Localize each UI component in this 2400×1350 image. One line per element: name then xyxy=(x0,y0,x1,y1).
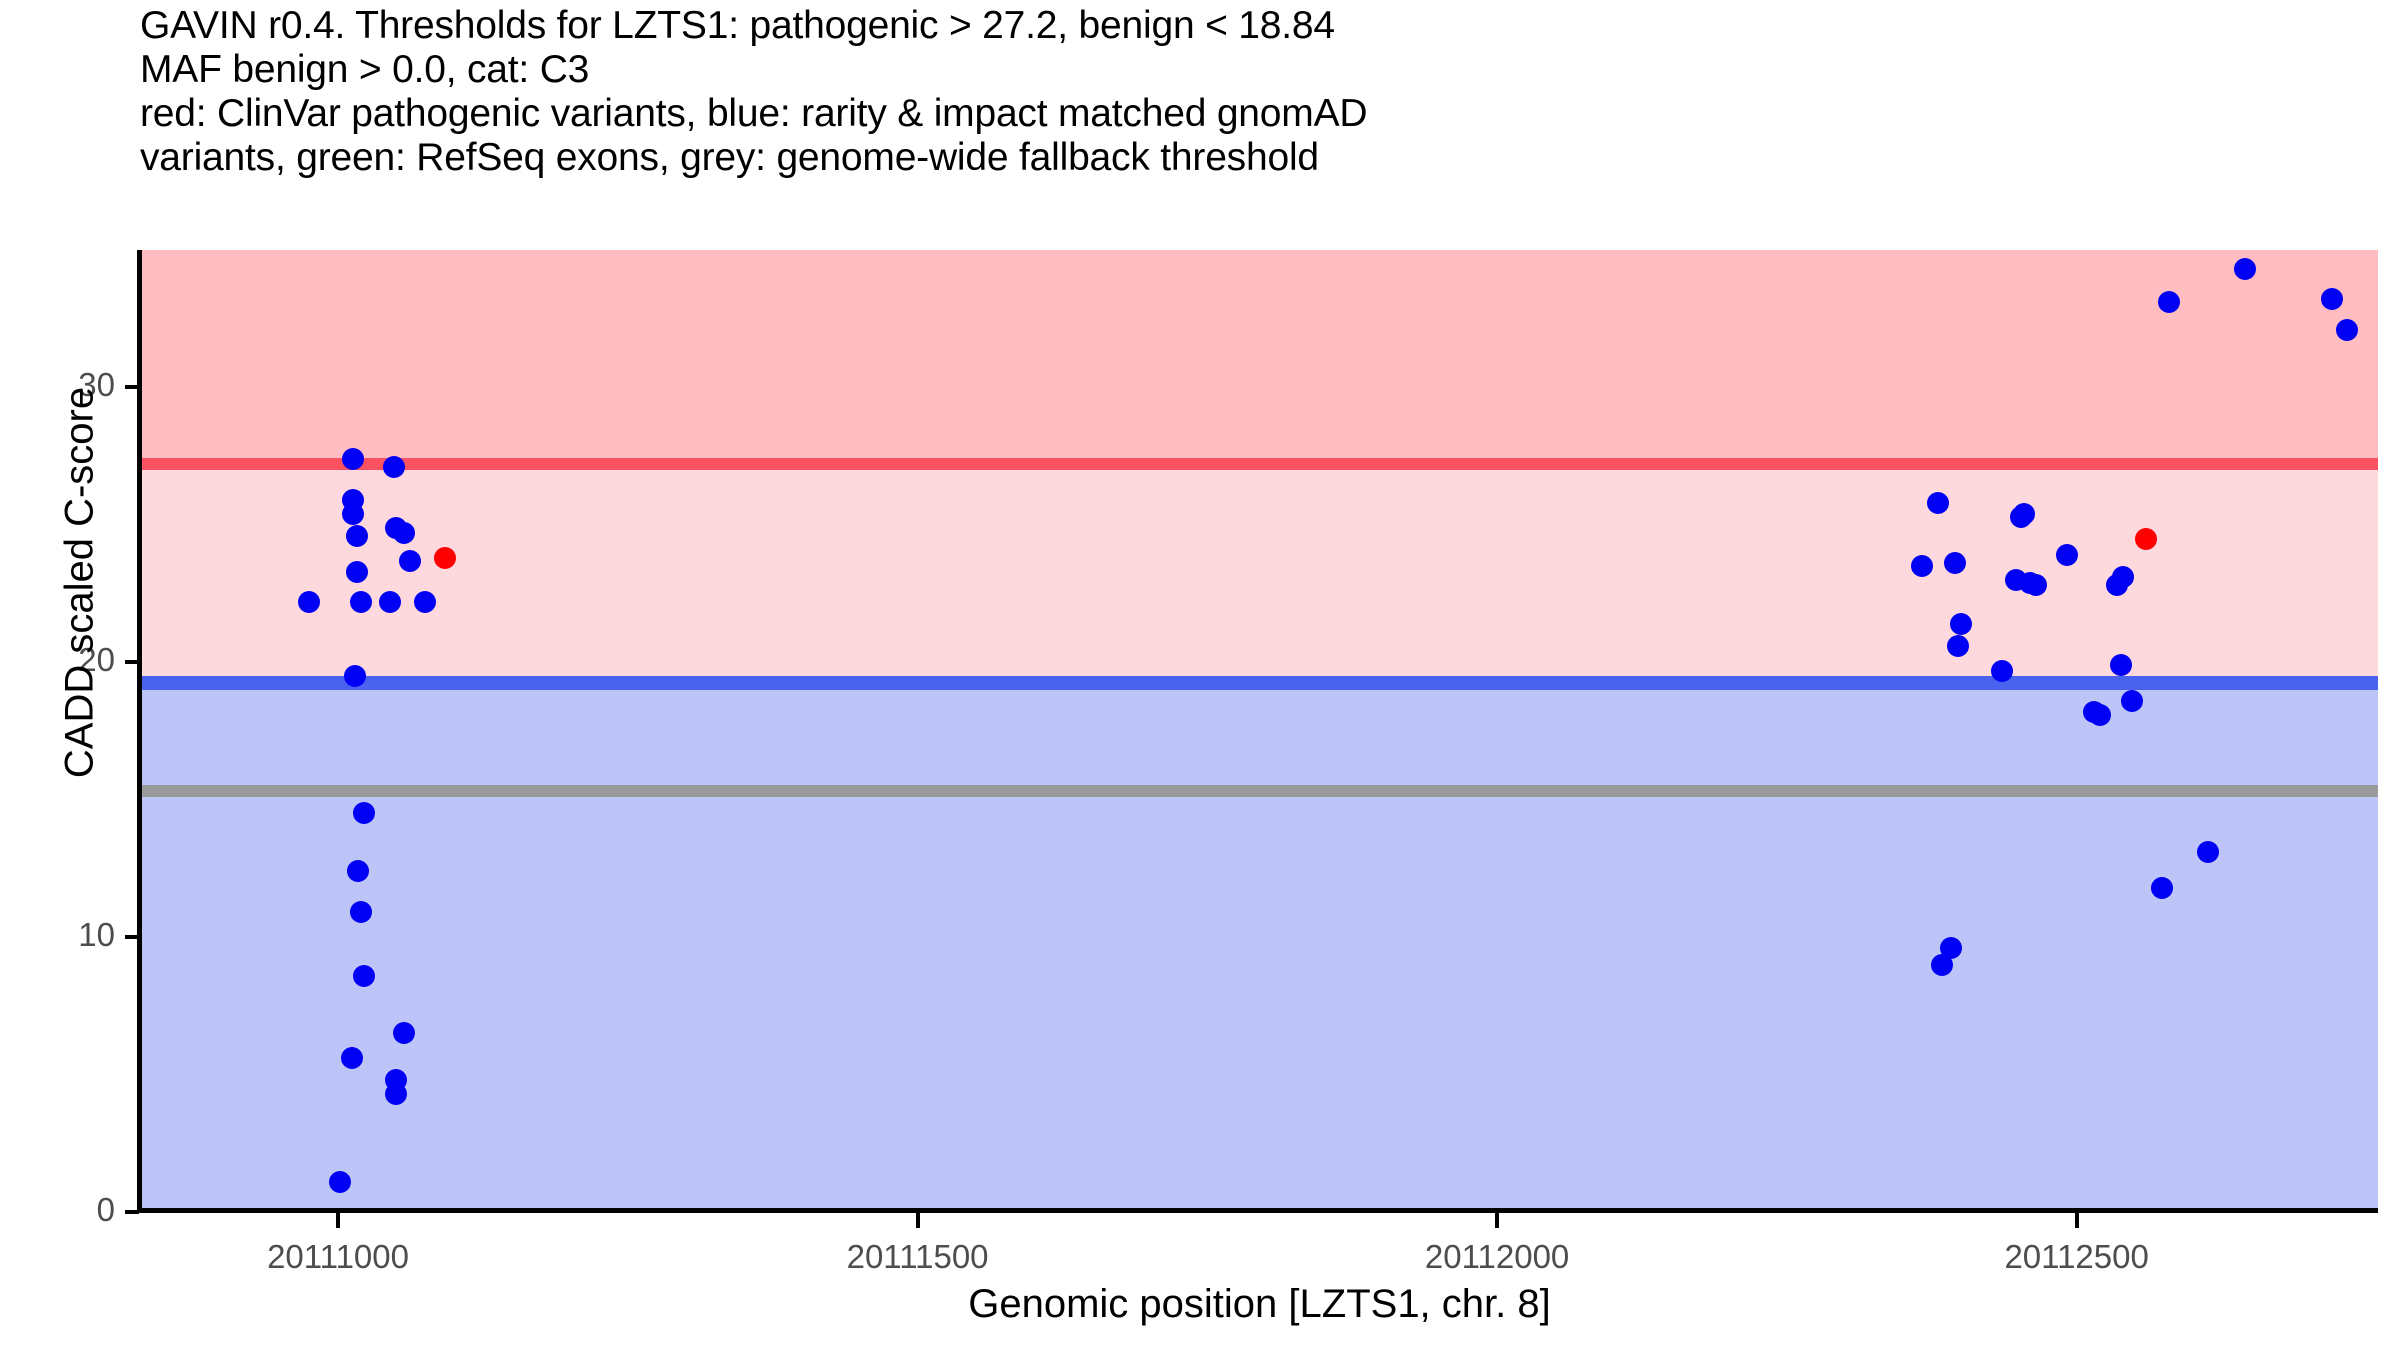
x-tick-label: 20111500 xyxy=(768,1238,1068,1276)
y-tick-mark xyxy=(125,1210,139,1214)
y-axis-title: CADD scaled C-score xyxy=(58,203,103,963)
y-tick-label: 0 xyxy=(0,1191,115,1229)
plot-panel xyxy=(141,250,2378,1212)
y-tick-mark xyxy=(125,935,139,939)
benign-region-lower xyxy=(141,797,2378,1212)
x-tick-label: 20112000 xyxy=(1347,1238,1647,1276)
x-tick-mark xyxy=(2075,1213,2079,1228)
x-tick-mark xyxy=(336,1213,340,1228)
data-point xyxy=(346,525,368,547)
data-point xyxy=(342,503,364,525)
y-axis-line xyxy=(137,250,142,1212)
x-axis-title: Genomic position [LZTS1, chr. 8] xyxy=(141,1282,2378,1327)
y-tick-mark xyxy=(125,660,139,664)
data-point xyxy=(1991,660,2013,682)
pathogenic-region xyxy=(141,250,2378,458)
data-point xyxy=(1950,613,1972,635)
data-point xyxy=(383,456,405,478)
data-point xyxy=(350,591,372,613)
data-point xyxy=(434,547,456,569)
data-point xyxy=(346,561,368,583)
y-tick-mark xyxy=(125,385,139,389)
data-point xyxy=(342,448,364,470)
x-tick-label: 20111000 xyxy=(188,1238,488,1276)
data-point xyxy=(2197,841,2219,863)
data-point xyxy=(2336,319,2358,341)
x-tick-mark xyxy=(1495,1213,1499,1228)
x-tick-mark xyxy=(916,1213,920,1228)
data-point xyxy=(2089,704,2111,726)
data-point xyxy=(399,550,421,572)
data-point xyxy=(1927,492,1949,514)
benign-region-upper xyxy=(141,690,2378,785)
data-point xyxy=(1931,954,1953,976)
data-point xyxy=(353,802,375,824)
data-point xyxy=(329,1171,351,1193)
data-point xyxy=(2112,566,2134,588)
x-axis-line xyxy=(137,1208,2378,1213)
data-point xyxy=(298,591,320,613)
data-point xyxy=(385,1083,407,1105)
data-point xyxy=(414,591,436,613)
pathogenic-threshold-line xyxy=(141,458,2378,470)
vous-region xyxy=(141,470,2378,676)
data-point xyxy=(341,1047,363,1069)
data-point xyxy=(2151,877,2173,899)
data-point xyxy=(2135,528,2157,550)
benign-threshold-line xyxy=(141,676,2378,690)
data-point xyxy=(379,591,401,613)
data-point xyxy=(353,965,375,987)
genome-wide-fallback-line xyxy=(141,785,2378,797)
data-point xyxy=(2110,654,2132,676)
data-point xyxy=(2121,690,2143,712)
data-point xyxy=(347,860,369,882)
data-point xyxy=(2234,258,2256,280)
x-tick-label: 20112500 xyxy=(1927,1238,2227,1276)
scatter-plot: 0102030 20111000201115002011200020112500… xyxy=(0,0,2400,1350)
data-point xyxy=(2321,288,2343,310)
